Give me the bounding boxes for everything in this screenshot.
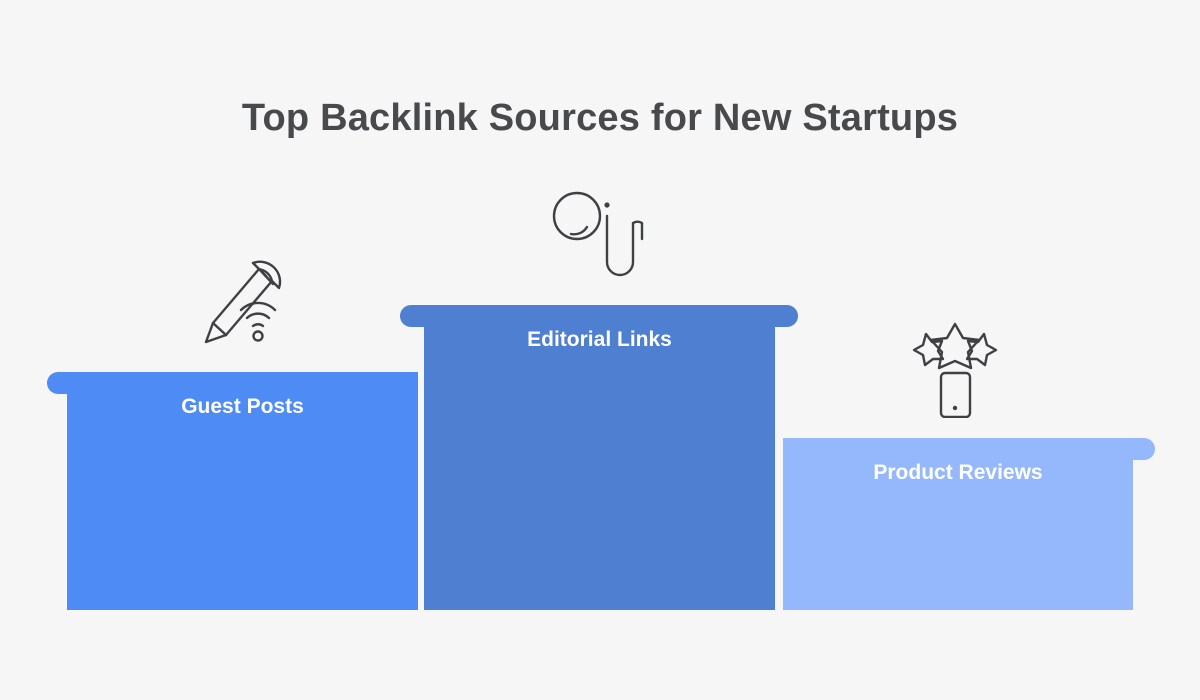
bar-group-guest-posts[interactable]: Guest Posts [47, 372, 418, 610]
bar-group-product-reviews[interactable]: Product Reviews [783, 438, 1155, 610]
bar-cap-guest-posts [47, 372, 418, 394]
bar-cap-product-reviews [783, 438, 1155, 460]
bar-label-editorial-links: Editorial Links [424, 327, 775, 353]
lens-paperclip-icon [549, 186, 649, 286]
infographic-canvas: Top Backlink Sources for New Startups Gu… [0, 0, 1200, 700]
bar-label-guest-posts: Guest Posts [67, 394, 418, 420]
page-title: Top Backlink Sources for New Startups [0, 94, 1200, 142]
bar-label-product-reviews: Product Reviews [783, 460, 1133, 486]
bar-group-editorial-links[interactable]: Editorial Links [400, 305, 798, 610]
pencil-wifi-icon [193, 247, 293, 347]
bar-cap-editorial-links [400, 305, 798, 327]
stars-phone-icon [905, 318, 1005, 418]
